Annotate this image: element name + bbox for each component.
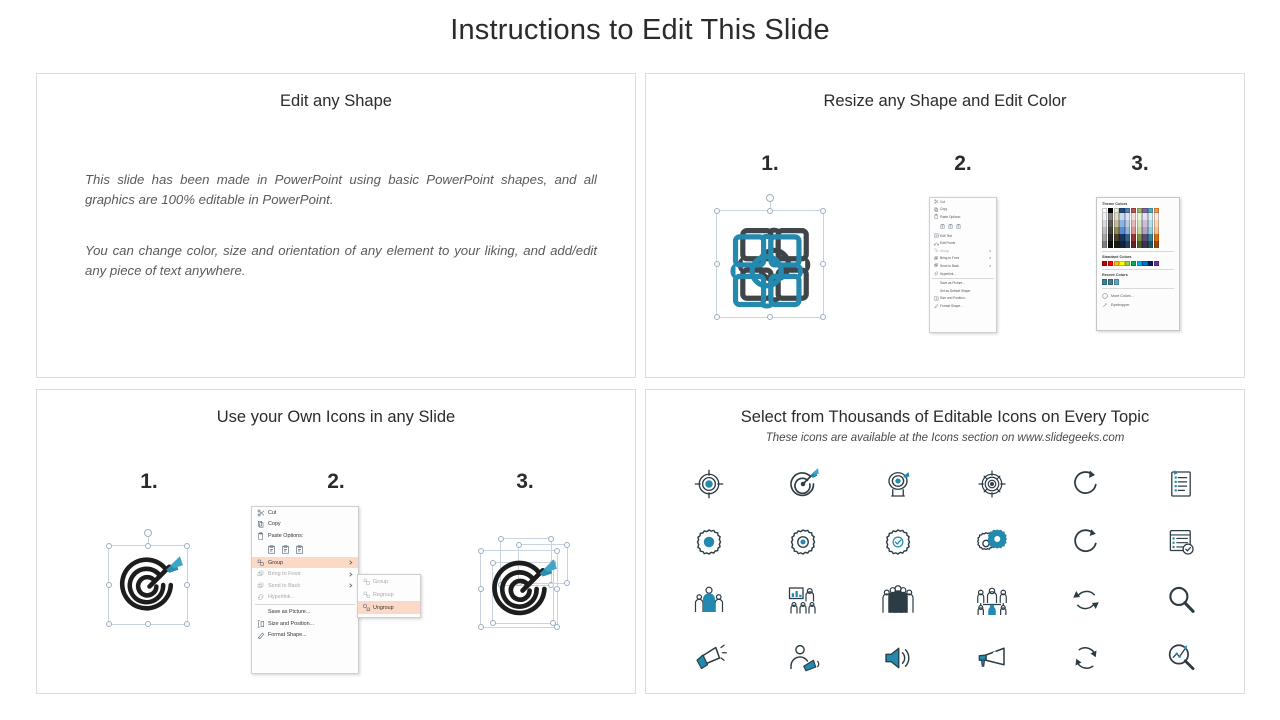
menu-item-label: Format Shape... — [940, 304, 963, 308]
theme-tint-6-1[interactable] — [1137, 220, 1142, 227]
menu-small-item-size-and-position[interactable]: Size and Position... — [930, 295, 996, 303]
group-submenu-items: GroupRegroupUngroup — [358, 575, 420, 614]
theme-tint-4-1[interactable] — [1125, 220, 1130, 227]
menu-item-label: Save as Picture... — [268, 609, 310, 615]
rotate-handle-icon[interactable] — [144, 529, 152, 537]
theme-tint-0-0[interactable] — [1102, 213, 1107, 220]
menu-item-cut[interactable]: Cut — [252, 507, 358, 519]
bring-front-icon — [934, 256, 939, 261]
theme-colors-label: Theme Colors — [1102, 202, 1174, 206]
send-back-icon — [932, 262, 940, 269]
paste-option-icon[interactable] — [948, 224, 953, 229]
handle-top-right[interactable] — [548, 536, 554, 542]
icon-cell-dartboard-arrow[interactable] — [756, 455, 850, 513]
size-position-icon — [255, 618, 268, 629]
menu-small-item-hyperlink[interactable]: Hyperlink... — [930, 270, 996, 278]
recent-swatch-0[interactable] — [1102, 279, 1107, 284]
theme-tint-7-0[interactable] — [1142, 213, 1147, 220]
theme-tint-1-4[interactable] — [1108, 241, 1113, 248]
copy-icon — [934, 207, 939, 212]
circular-arrows-icon — [1068, 640, 1104, 676]
dartboard-arrow-icon — [110, 547, 186, 623]
paste-option-icon[interactable] — [940, 224, 945, 229]
chevron-right-icon — [347, 571, 354, 578]
paste-options-row[interactable] — [930, 221, 996, 232]
icon-cell-sync-arrows[interactable] — [1039, 571, 1133, 629]
theme-tint-5-0[interactable] — [1131, 213, 1136, 220]
theme-tint-row-3 — [1102, 234, 1174, 241]
theme-tint-4-2[interactable] — [1125, 227, 1130, 234]
more-colors-label: More Colors... — [1111, 294, 1134, 298]
menu-item-label: Bring to Front — [268, 571, 301, 577]
icon-cell-circular-arrows[interactable] — [1039, 629, 1133, 687]
theme-tint-3-2[interactable] — [1119, 227, 1124, 234]
bring-front-icon — [255, 569, 268, 580]
link-icon — [934, 271, 939, 276]
handle-bottom-right[interactable] — [564, 580, 570, 586]
icon-cell-speaker[interactable] — [851, 629, 945, 687]
theme-tint-6-0[interactable] — [1137, 213, 1142, 220]
icon-cell-rotate-clockwise[interactable] — [1039, 455, 1133, 513]
handle-top-left[interactable] — [498, 536, 504, 542]
presentation-team-icon — [785, 582, 821, 618]
theme-tint-3-4[interactable] — [1119, 241, 1124, 248]
theme-tint-5-3[interactable] — [1131, 234, 1136, 241]
theme-tint-6-3[interactable] — [1137, 234, 1142, 241]
theme-tint-7-1[interactable] — [1142, 220, 1147, 227]
menu-item-label: Size and Position... — [268, 621, 314, 627]
icon-cell-magnifier-chart[interactable] — [1134, 629, 1228, 687]
eyedropper-label: Eyedropper — [1111, 303, 1130, 307]
bring-front-icon — [932, 255, 940, 262]
menu-item-label: Copy — [268, 521, 281, 527]
chevron-right-icon — [988, 256, 992, 260]
theme-tint-row-4 — [1102, 241, 1174, 248]
format-shape-icon — [934, 303, 939, 308]
group-icon — [361, 576, 373, 587]
theme-tint-4-4[interactable] — [1125, 241, 1130, 248]
team-person-icon — [691, 582, 727, 618]
theme-tint-row-1 — [1102, 220, 1174, 227]
megaphone-percent-icon — [974, 640, 1010, 676]
standard-swatch-5[interactable] — [1131, 261, 1136, 266]
rotate-clockwise-icon — [1068, 466, 1104, 502]
resize-step-2-number: 2. — [933, 152, 993, 176]
link-icon — [257, 593, 265, 601]
theme-tint-1-1[interactable] — [1108, 220, 1113, 227]
icon-cell-team-person[interactable] — [662, 571, 756, 629]
menu-small-item-save-as-picture[interactable]: Save as Picture... — [930, 279, 996, 287]
clipboard-icon — [934, 214, 939, 219]
menu-small-item-copy[interactable]: Copy — [930, 206, 996, 214]
theme-tint-2-3[interactable] — [1114, 234, 1119, 241]
menu-item-label: Group — [268, 560, 283, 566]
panel-title-icon-library: Select from Thousands of Editable Icons … — [646, 408, 1244, 427]
menu-item-paste-options[interactable]: Paste Options: — [252, 530, 358, 542]
menu-item-size-and-position[interactable]: Size and Position... — [252, 618, 358, 630]
menu-item-icon — [932, 280, 940, 287]
theme-tint-3-1[interactable] — [1119, 220, 1124, 227]
theme-tint-0-3[interactable] — [1102, 234, 1107, 241]
icon-cell-megaphone[interactable] — [662, 629, 756, 687]
person-megaphone-icon — [785, 640, 821, 676]
theme-tint-7-4[interactable] — [1142, 241, 1147, 248]
submenu-item-label: Group — [373, 579, 388, 585]
icon-cell-target-stand[interactable] — [851, 455, 945, 513]
format-shape-icon — [932, 302, 940, 309]
icon-library-grid — [662, 455, 1228, 687]
regroup-icon — [363, 591, 371, 599]
copy-icon — [255, 519, 268, 530]
edit-points-icon — [934, 241, 939, 246]
checklist-document-icon — [1164, 525, 1198, 559]
menu-item-label: Cut — [268, 510, 276, 516]
menu-item-label: Size and Position... — [940, 296, 967, 300]
theme-tint-row-0 — [1102, 213, 1174, 220]
icon-cell-megaphone-percent[interactable] — [945, 629, 1039, 687]
size-position-icon — [257, 620, 265, 628]
menu-item-send-to-back[interactable]: Send to Back — [252, 580, 358, 592]
menu-item-label: Send to Back — [268, 583, 300, 589]
gear-check-icon — [880, 524, 916, 560]
panel-title-own-icons: Use your Own Icons in any Slide — [37, 408, 635, 427]
icon-cell-target-crosshair[interactable] — [662, 455, 756, 513]
standard-swatch-6[interactable] — [1137, 261, 1142, 266]
theme-tint-row-2 — [1102, 227, 1174, 234]
scissors-icon — [932, 198, 940, 205]
theme-tint-9-3[interactable] — [1154, 234, 1159, 241]
menu-small-item-bring-to-front[interactable]: Bring to Front — [930, 255, 996, 263]
resize-step-3-number: 3. — [1110, 152, 1170, 176]
theme-tint-2-4[interactable] — [1114, 241, 1119, 248]
theme-tint-0-4[interactable] — [1102, 241, 1107, 248]
target-crosshair-icon — [691, 466, 727, 502]
menu-item-label: Set as Default Shape — [940, 289, 970, 293]
theme-tint-3-3[interactable] — [1119, 234, 1124, 241]
group-icon — [932, 247, 940, 254]
theme-tint-7-3[interactable] — [1142, 234, 1147, 241]
theme-tint-5-1[interactable] — [1131, 220, 1136, 227]
standard-swatch-0[interactable] — [1102, 261, 1107, 266]
paste-option-icon[interactable] — [267, 545, 276, 554]
handle-bottom-left[interactable] — [714, 314, 720, 320]
standard-colors-row[interactable] — [1102, 261, 1174, 266]
menu-item-icon — [932, 287, 940, 294]
magnifier-chart-icon — [1164, 641, 1198, 675]
scissors-icon — [257, 509, 265, 517]
theme-tint-9-0[interactable] — [1154, 213, 1159, 220]
group-icon — [255, 557, 268, 568]
theme-tint-2-1[interactable] — [1114, 220, 1119, 227]
theme-tint-9-1[interactable] — [1154, 220, 1159, 227]
group-submenu[interactable]: GroupRegroupUngroup — [357, 574, 421, 618]
theme-tint-4-0[interactable] — [1125, 213, 1130, 220]
icon-cell-gear-solid[interactable] — [662, 513, 756, 571]
paste-option-icon[interactable] — [281, 545, 290, 554]
icon-cell-checklist-document[interactable] — [1134, 513, 1228, 571]
palette-divider-2 — [1102, 269, 1174, 270]
theme-tint-4-3[interactable] — [1125, 234, 1130, 241]
standard-swatch-8[interactable] — [1148, 261, 1153, 266]
panel-title-resize-shape: Resize any Shape and Edit Color — [646, 92, 1244, 111]
standard-swatch-1[interactable] — [1108, 261, 1113, 266]
recent-colors-label: Recent Colors — [1102, 273, 1174, 277]
crosshair-radar-icon — [974, 466, 1010, 502]
theme-tint-5-4[interactable] — [1131, 241, 1136, 248]
menu-small-item-edit-text[interactable]: Edit Text — [930, 232, 996, 240]
panel-title-edit-shape: Edit any Shape — [37, 92, 635, 111]
theme-tint-6-2[interactable] — [1137, 227, 1142, 234]
menu-small-item-group[interactable]: Group — [930, 247, 996, 255]
menu-item-bring-to-front[interactable]: Bring to Front — [252, 568, 358, 580]
context-menu-items: CutCopyPaste Options:GroupBring to Front… — [252, 507, 358, 641]
context-menu-small-items: CutCopyPaste Options:Edit TextEdit Point… — [930, 198, 996, 310]
send-back-icon — [255, 580, 268, 591]
chevron-right-icon — [347, 559, 354, 566]
chevron-right-icon — [988, 264, 992, 268]
panel-edit-any-shape: Edit any Shape This slide has been made … — [36, 73, 636, 378]
dartboard-arrow-icon — [482, 550, 560, 628]
menu-item-label: Edit Points — [940, 241, 955, 245]
regroup-icon — [361, 589, 373, 600]
double-gear-icon — [974, 524, 1010, 560]
submenu-item-label: Regroup — [373, 592, 394, 598]
theme-tint-8-1[interactable] — [1148, 220, 1153, 227]
team-network-icon — [974, 582, 1010, 618]
edit-shape-paragraph-1: This slide has been made in PowerPoint u… — [85, 170, 597, 210]
menu-small-item-format-shape[interactable]: Format Shape... — [930, 302, 996, 310]
chevron-right-icon — [347, 582, 354, 589]
menu-small-item-cut[interactable]: Cut — [930, 198, 996, 206]
icon-cell-crosshair-radar[interactable] — [945, 455, 1039, 513]
menu-small-item-edit-points[interactable]: Edit Points — [930, 239, 996, 247]
icons-step-2-number: 2. — [306, 470, 366, 494]
icon-cell-presentation-team[interactable] — [756, 571, 850, 629]
menu-small-item-paste-options[interactable]: Paste Options: — [930, 213, 996, 221]
menu-item-label: Paste Options: — [268, 533, 303, 539]
menu-item-label: Edit Text — [940, 234, 952, 238]
menu-item-label: Copy — [940, 207, 947, 211]
dartboard-arrow-icon — [785, 466, 821, 502]
rotate-handle-icon[interactable] — [766, 194, 774, 202]
scissors-icon — [255, 507, 268, 518]
speaker-icon — [880, 640, 916, 676]
theme-tint-8-2[interactable] — [1148, 227, 1153, 234]
palette-icon — [1102, 293, 1108, 299]
theme-tint-0-1[interactable] — [1102, 220, 1107, 227]
group-people-icon — [880, 582, 916, 618]
paste-option-icon[interactable] — [295, 545, 304, 554]
icon-cell-refresh-arrow[interactable] — [1039, 513, 1133, 571]
submenu-item-regroup[interactable]: Regroup — [358, 588, 420, 601]
recent-swatch-1[interactable] — [1108, 279, 1113, 284]
ungrouped-target-icon[interactable] — [478, 534, 578, 634]
theme-tint-2-2[interactable] — [1114, 227, 1119, 234]
send-back-icon — [257, 582, 265, 590]
standard-swatch-2[interactable] — [1114, 261, 1119, 266]
standard-swatch-7[interactable] — [1142, 261, 1147, 266]
theme-tint-9-4[interactable] — [1154, 241, 1159, 248]
scissors-icon — [934, 199, 939, 204]
theme-tint-8-4[interactable] — [1148, 241, 1153, 248]
icon-cell-group-people[interactable] — [851, 571, 945, 629]
menu-item-label: Paste Options: — [940, 215, 961, 219]
theme-tint-7-2[interactable] — [1142, 227, 1147, 234]
eyedropper-item[interactable]: Eyedropper — [1102, 301, 1174, 310]
standard-swatch-9[interactable] — [1154, 261, 1159, 266]
icons-step-1-number: 1. — [119, 470, 179, 494]
icon-cell-double-gear[interactable] — [945, 513, 1039, 571]
group-icon — [363, 578, 371, 586]
submenu-item-label: Ungroup — [373, 605, 394, 611]
megaphone-icon — [691, 640, 727, 676]
clipboard-icon — [255, 530, 268, 541]
icon-library-subtitle: These icons are available at the Icons s… — [646, 432, 1244, 444]
size-position-icon — [934, 296, 939, 301]
menu-item-copy[interactable]: Copy — [252, 519, 358, 531]
group-icon — [934, 248, 939, 253]
theme-tint-0-2[interactable] — [1102, 227, 1107, 234]
target-stand-icon — [880, 466, 916, 502]
format-shape-icon — [255, 630, 268, 641]
theme-tint-3-0[interactable] — [1119, 213, 1124, 220]
menu-item-label: Bring to Front — [940, 256, 959, 260]
resize-step-1-number: 1. — [740, 152, 800, 176]
handle-top-right[interactable] — [564, 542, 570, 548]
eyedropper-icon — [1102, 302, 1108, 308]
format-shape-icon — [257, 631, 265, 639]
chevron-right-icon — [988, 249, 992, 253]
edit-shape-paragraph-2: You can change color, size and orientati… — [85, 241, 597, 281]
link-icon — [932, 270, 940, 277]
standard-swatch-4[interactable] — [1125, 261, 1130, 266]
theme-tint-2-0[interactable] — [1114, 213, 1119, 220]
more-colors-item[interactable]: More Colors... — [1102, 292, 1174, 301]
ungroup-icon — [363, 604, 371, 612]
document-list-icon — [1164, 467, 1198, 501]
menu-item-label: Format Shape... — [268, 632, 307, 638]
edit-points-icon — [932, 240, 940, 247]
menu-item-icon — [255, 606, 268, 617]
handle-top-left[interactable] — [714, 208, 720, 214]
menu-small-item-send-to-back[interactable]: Send to Back — [930, 262, 996, 270]
handle-top-left[interactable] — [516, 542, 522, 548]
page-title: Instructions to Edit This Slide — [0, 14, 1280, 47]
color-picker-palette[interactable]: Theme Colors Standard Colors Recent Colo… — [1096, 197, 1180, 331]
context-menu-format-shape[interactable]: CutCopyPaste Options:Edit TextEdit Point… — [929, 197, 997, 333]
menu-item-label: Hyperlink... — [940, 272, 956, 276]
theme-tints-grid[interactable] — [1102, 213, 1174, 248]
icon-cell-team-network[interactable] — [945, 571, 1039, 629]
menu-item-group[interactable]: Group — [252, 557, 358, 569]
icons-step-3-number: 3. — [495, 470, 555, 494]
icon-cell-gear-check[interactable] — [851, 513, 945, 571]
theme-tint-1-0[interactable] — [1108, 213, 1113, 220]
group-icon — [257, 559, 265, 567]
theme-tint-9-2[interactable] — [1154, 227, 1159, 234]
theme-tint-1-3[interactable] — [1108, 234, 1113, 241]
palette-divider-1 — [1102, 251, 1174, 252]
slide-canvas: Instructions to Edit This Slide Edit any… — [0, 0, 1280, 720]
menu-item-format-shape[interactable]: Format Shape... — [252, 629, 358, 641]
sync-arrows-icon — [1068, 582, 1104, 618]
handle-middle-left[interactable] — [714, 261, 720, 267]
edit-text-icon — [934, 233, 939, 238]
gear-center-icon — [785, 524, 821, 560]
menu-item-label: Send to Back — [940, 264, 959, 268]
menu-item-label: Save as Picture... — [940, 281, 965, 285]
context-menu-ungroup[interactable]: CutCopyPaste Options:GroupBring to Front… — [251, 506, 359, 674]
icon-cell-gear-center[interactable] — [756, 513, 850, 571]
send-back-icon — [934, 263, 939, 268]
menu-item-label: Hyperlink... — [268, 594, 295, 600]
edit-text-icon — [932, 232, 940, 239]
theme-tint-8-0[interactable] — [1148, 213, 1153, 220]
theme-tint-1-2[interactable] — [1108, 227, 1113, 234]
clipboard-icon — [932, 213, 940, 220]
submenu-item-group[interactable]: Group — [358, 575, 420, 588]
gear-solid-icon — [691, 524, 727, 560]
palette-divider-3 — [1102, 288, 1174, 289]
menu-item-label: Group — [940, 249, 949, 253]
standard-swatch-3[interactable] — [1119, 261, 1124, 266]
menu-item-label: Cut — [940, 200, 945, 204]
quad-square-shape-icon — [722, 214, 826, 318]
menu-item-hyperlink[interactable]: Hyperlink... — [252, 592, 358, 604]
icon-cell-document-list[interactable] — [1134, 455, 1228, 513]
link-icon — [255, 592, 268, 603]
copy-icon — [932, 206, 940, 213]
standard-colors-label: Standard Colors — [1102, 255, 1174, 259]
menu-small-item-set-as-default-shape[interactable]: Set as Default Shape — [930, 287, 996, 295]
recent-colors-row[interactable] — [1102, 279, 1174, 284]
theme-tint-6-4[interactable] — [1137, 241, 1142, 248]
menu-separator — [255, 604, 355, 605]
paste-options-row[interactable] — [252, 542, 358, 557]
bring-front-icon — [257, 570, 265, 578]
copy-icon — [257, 520, 265, 528]
ungroup-icon — [361, 602, 373, 613]
menu-item-save-as-picture[interactable]: Save as Picture... — [252, 606, 358, 618]
theme-tint-8-3[interactable] — [1148, 234, 1153, 241]
icon-cell-magnifier[interactable] — [1134, 571, 1228, 629]
icon-cell-person-megaphone[interactable] — [756, 629, 850, 687]
clipboard-icon — [257, 532, 265, 540]
submenu-item-ungroup[interactable]: Ungroup — [358, 601, 420, 614]
paste-option-icon[interactable] — [956, 224, 961, 229]
recent-swatch-2[interactable] — [1114, 279, 1119, 284]
size-position-icon — [932, 295, 940, 302]
theme-tint-5-2[interactable] — [1131, 227, 1136, 234]
refresh-arrow-icon — [1068, 524, 1104, 560]
magnifier-icon — [1164, 583, 1198, 617]
